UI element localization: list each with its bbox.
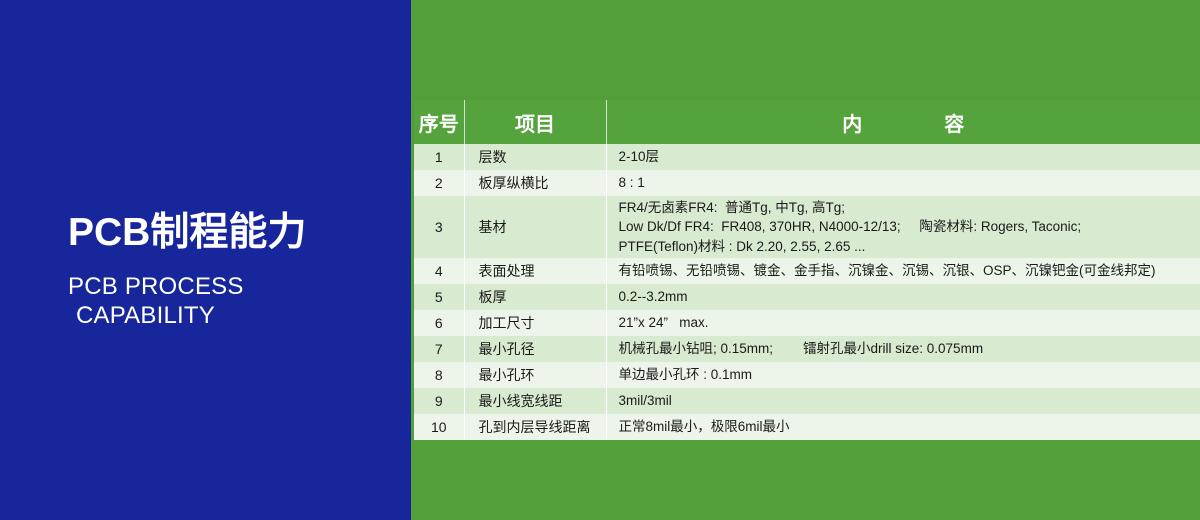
table-row: 6 加工尺寸 21”x 24” max. — [414, 310, 1200, 336]
column-header-content-label: 内 容 — [828, 114, 978, 136]
table-row: 5 板厚 0.2--3.2mm — [414, 284, 1200, 310]
row-number: 8 — [414, 362, 464, 388]
row-item: 板厚纵横比 — [464, 170, 606, 196]
row-content: 正常8mil最小，极限6mil最小 — [606, 414, 1200, 440]
row-item: 最小孔环 — [464, 362, 606, 388]
column-header-content: 内 容 — [606, 100, 1200, 144]
row-item: 层数 — [464, 144, 606, 170]
row-content-line2: Low Dk/Df FR4: FR408, 370HR, N4000-12/13… — [619, 217, 1197, 237]
page-title-en: PCB PROCESS CAPABILITY — [68, 272, 398, 331]
spec-table-wrap: 序号 项目 内 容 1 层数 2-10层 2 板厚纵横比 8 : 1 — [414, 100, 1200, 440]
row-item: 表面处理 — [464, 258, 606, 284]
title-block: PCB制程能力 PCB PROCESS CAPABILITY — [68, 212, 398, 331]
table-row: 1 层数 2-10层 — [414, 144, 1200, 170]
table-row: 2 板厚纵横比 8 : 1 — [414, 170, 1200, 196]
row-content: 8 : 1 — [606, 170, 1200, 196]
table-header-row: 序号 项目 内 容 — [414, 100, 1200, 144]
row-content-multiline: FR4/无卤素FR4: 普通Tg, 中Tg, 高Tg; Low Dk/Df FR… — [619, 198, 1197, 257]
row-item: 最小孔径 — [464, 336, 606, 362]
row-number: 2 — [414, 170, 464, 196]
column-header-no: 序号 — [414, 100, 464, 144]
table-row: 4 表面处理 有铅喷锡、无铅喷锡、镀金、金手指、沉镍金、沉锡、沉银、OSP、沉镍… — [414, 258, 1200, 284]
spec-table-head: 序号 项目 内 容 — [414, 100, 1200, 144]
row-content-line3: PTFE(Teflon)材料 : Dk 2.20, 2.55, 2.65 ... — [619, 237, 1197, 257]
table-row: 10 孔到内层导线距离 正常8mil最小，极限6mil最小 — [414, 414, 1200, 440]
row-content: 2-10层 — [606, 144, 1200, 170]
spec-table-body: 1 层数 2-10层 2 板厚纵横比 8 : 1 3 基材 FR4/无卤素FR4… — [414, 144, 1200, 440]
row-content: 单边最小孔环 : 0.1mm — [606, 362, 1200, 388]
row-number: 10 — [414, 414, 464, 440]
row-content: 有铅喷锡、无铅喷锡、镀金、金手指、沉镍金、沉锡、沉银、OSP、沉镍钯金(可金线邦… — [606, 258, 1200, 284]
row-content: 21”x 24” max. — [606, 310, 1200, 336]
row-number: 4 — [414, 258, 464, 284]
row-content-line1: FR4/无卤素FR4: 普通Tg, 中Tg, 高Tg; — [619, 198, 1197, 218]
row-item: 基材 — [464, 196, 606, 258]
row-item: 最小线宽线距 — [464, 388, 606, 414]
column-header-item: 项目 — [464, 100, 606, 144]
row-content: 机械孔最小钻咀; 0.15mm; 镭射孔最小drill size: 0.075m… — [606, 336, 1200, 362]
row-number: 3 — [414, 196, 464, 258]
row-number: 9 — [414, 388, 464, 414]
page-title-en-line2: CAPABILITY — [68, 301, 398, 330]
table-row: 8 最小孔环 单边最小孔环 : 0.1mm — [414, 362, 1200, 388]
table-row: 7 最小孔径 机械孔最小钻咀; 0.15mm; 镭射孔最小drill size:… — [414, 336, 1200, 362]
row-item: 板厚 — [464, 284, 606, 310]
row-number: 7 — [414, 336, 464, 362]
table-row: 3 基材 FR4/无卤素FR4: 普通Tg, 中Tg, 高Tg; Low Dk/… — [414, 196, 1200, 258]
row-number: 6 — [414, 310, 464, 336]
row-content: 0.2--3.2mm — [606, 284, 1200, 310]
page-title-cn: PCB制程能力 — [68, 212, 398, 254]
row-content: 3mil/3mil — [606, 388, 1200, 414]
slide-root: PCB制程能力 PCB PROCESS CAPABILITY 序号 项目 内 容 — [0, 0, 1200, 520]
table-row: 9 最小线宽线距 3mil/3mil — [414, 388, 1200, 414]
row-content: FR4/无卤素FR4: 普通Tg, 中Tg, 高Tg; Low Dk/Df FR… — [606, 196, 1200, 258]
page-title-en-line1: PCB PROCESS — [68, 273, 244, 300]
spec-table: 序号 项目 内 容 1 层数 2-10层 2 板厚纵横比 8 : 1 — [414, 100, 1200, 440]
title-panel: PCB制程能力 PCB PROCESS CAPABILITY — [0, 0, 411, 520]
row-item: 孔到内层导线距离 — [464, 414, 606, 440]
row-number: 1 — [414, 144, 464, 170]
row-item: 加工尺寸 — [464, 310, 606, 336]
row-number: 5 — [414, 284, 464, 310]
